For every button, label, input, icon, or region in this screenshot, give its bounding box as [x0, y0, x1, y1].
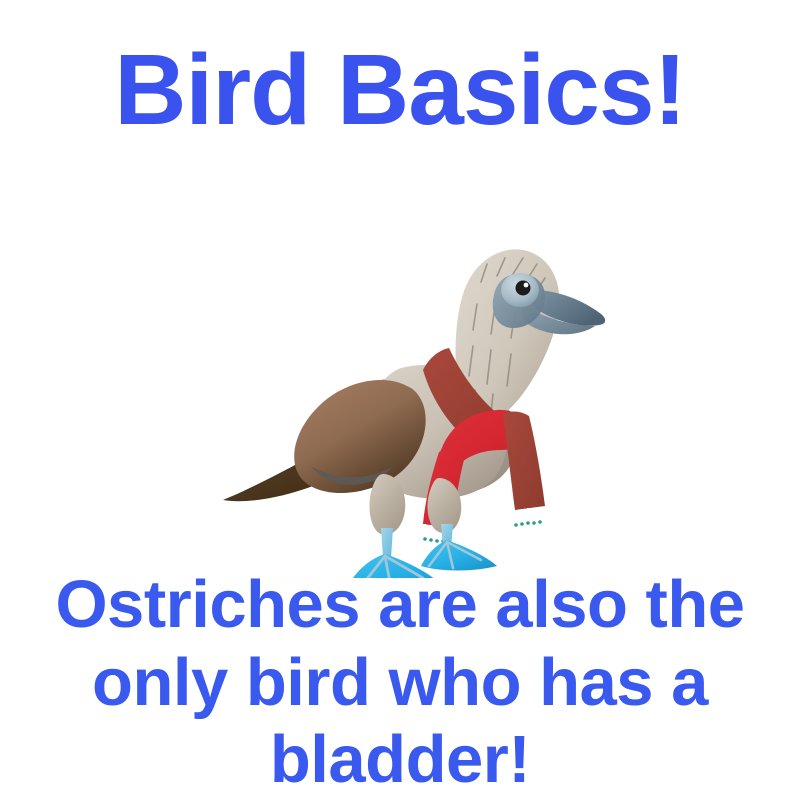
caption: Ostriches are also the only bird who has…	[0, 566, 800, 799]
caption-line-2: only bird who has a	[0, 644, 800, 722]
poster-canvas: Bird Basics!	[0, 0, 800, 800]
bird-illustration	[215, 198, 605, 578]
caption-line-1: Ostriches are also the	[0, 566, 800, 644]
eye-pupil	[516, 281, 531, 296]
page-title: Bird Basics!	[0, 36, 800, 144]
caption-line-3: bladder!	[0, 721, 800, 799]
blue-footed-booby-illustration	[215, 198, 605, 578]
scarf-tail-right	[503, 412, 545, 510]
eye-highlight	[524, 283, 529, 288]
leg-left-shank	[381, 528, 393, 558]
